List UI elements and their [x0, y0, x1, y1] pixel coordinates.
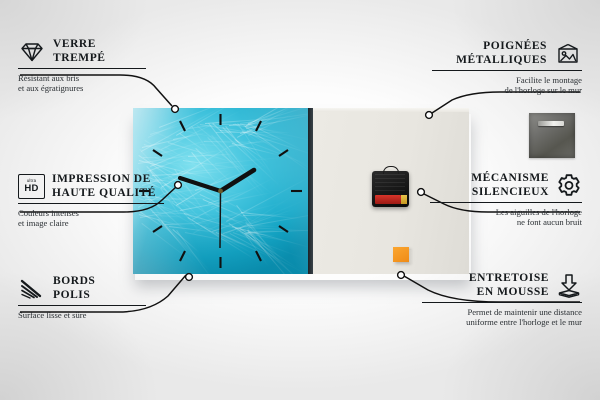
foam-spacer-shadow	[409, 250, 414, 264]
callout-title: POIGNÉES MÉTALLIQUES	[456, 40, 547, 67]
hanger-plate	[529, 113, 575, 158]
callout-title-row: MÉCANISME SILENCIEUX	[412, 172, 582, 199]
callout-title-row: BORDS POLIS	[18, 275, 168, 302]
callout-rule	[18, 305, 146, 306]
callout-entretoise-en-mousse[interactable]: ENTRETOISE EN MOUSSE Permet de maintenir…	[402, 272, 582, 328]
polished-edge-icon	[18, 278, 46, 300]
callout-rule	[432, 70, 582, 71]
callout-rule	[430, 202, 582, 203]
callout-impression-haute-qualite[interactable]: ultra HD IMPRESSION DE HAUTE QUALITÉ Cou…	[18, 173, 188, 229]
callout-title-row: VERRE TREMPÉ	[18, 38, 168, 65]
callout-rule	[422, 302, 582, 303]
callout-title-row: ultra HD IMPRESSION DE HAUTE QUALITÉ	[18, 173, 188, 200]
callout-title: MÉCANISME SILENCIEUX	[471, 172, 549, 199]
callout-verre-trempe[interactable]: VERRE TREMPÉ Résistant aux bris et aux é…	[18, 38, 168, 94]
callout-title: ENTRETOISE EN MOUSSE	[469, 272, 549, 299]
picture-hanger-icon	[554, 42, 582, 65]
callout-title: VERRE TREMPÉ	[53, 38, 106, 65]
clock-mechanism	[372, 171, 409, 207]
callout-rule	[18, 68, 146, 69]
mechanism-texture	[375, 174, 405, 192]
battery	[375, 195, 401, 204]
callout-poignees-metalliques[interactable]: POIGNÉES MÉTALLIQUES Facilite le montage…	[410, 40, 582, 96]
spacer-arrow-icon	[556, 273, 582, 298]
diamond-icon	[18, 41, 46, 63]
mechanism-hook	[383, 166, 399, 174]
gear-icon	[556, 173, 582, 198]
callout-title-row: POIGNÉES MÉTALLIQUES	[410, 40, 582, 67]
hanger-slot	[538, 121, 564, 126]
callout-bords-polis[interactable]: BORDS POLIS Surface lisse et sûre	[18, 275, 168, 320]
back-panel-highlight	[313, 108, 469, 112]
callout-title: BORDS POLIS	[53, 275, 95, 302]
infographic-canvas: VERRE TREMPÉ Résistant aux bris et aux é…	[0, 0, 600, 400]
callout-rule	[18, 203, 164, 204]
callout-title-row: ENTRETOISE EN MOUSSE	[402, 272, 582, 299]
foam-spacer	[393, 247, 409, 262]
clock-center-cap	[218, 189, 223, 194]
battery-terminal	[401, 195, 407, 204]
callout-mecanisme-silencieux[interactable]: MÉCANISME SILENCIEUX Les aiguilles de l'…	[412, 172, 582, 228]
hour-hand	[221, 170, 255, 191]
second-hand	[220, 191, 221, 248]
ultra-hd-icon: ultra HD	[18, 174, 45, 199]
callout-title: IMPRESSION DE HAUTE QUALITÉ	[52, 173, 156, 200]
